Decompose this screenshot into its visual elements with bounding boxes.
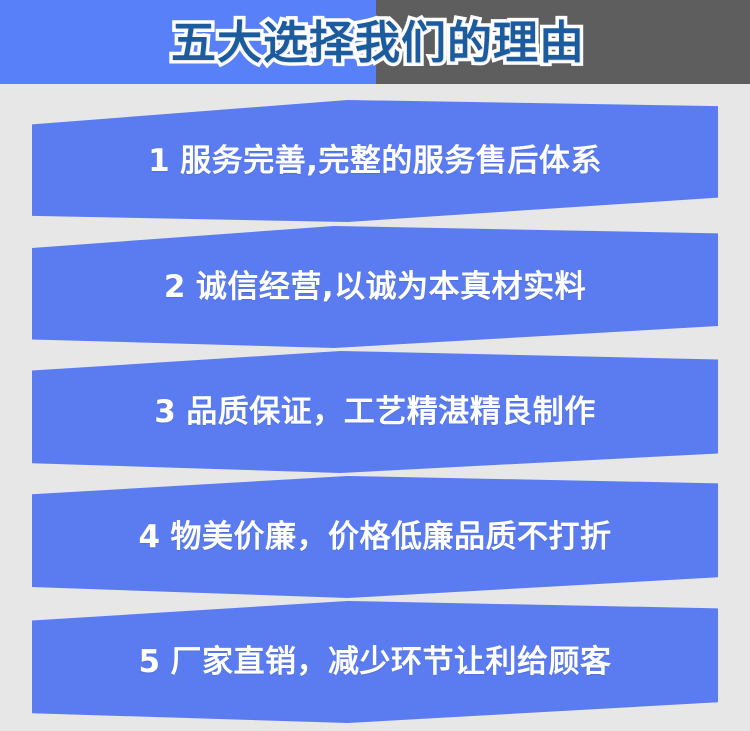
list-item[interactable]: 1服务完善,完整的服务售后体系: [0, 100, 750, 222]
reason-banner-2-label: 诚信经营,以诚为本真材实料: [196, 269, 586, 305]
reason-banner-5-content: 5厂家直销，减少环节让利给顾客: [138, 647, 611, 678]
reason-banner-1-label: 服务完善,完整的服务售后体系: [180, 143, 602, 179]
reason-banner-2-number: 2: [164, 272, 186, 303]
reason-banner-4-content: 4物美价廉，价格低廉品质不打折: [138, 522, 611, 553]
reason-banner-5[interactable]: 5厂家直销，减少环节让利给顾客: [32, 601, 718, 723]
list-item[interactable]: 3品质保证，工艺精湛精良制作: [0, 351, 750, 473]
header-bar: 五大选择我们的理由: [0, 0, 750, 84]
list-item[interactable]: 5厂家直销，减少环节让利给顾客: [0, 601, 750, 723]
reason-banner-2-content: 2诚信经营,以诚为本真材实料: [164, 272, 586, 303]
reason-banner-2[interactable]: 2诚信经营,以诚为本真材实料: [32, 226, 718, 348]
reason-banner-3-label: 品质保证，工艺精湛精良制作: [186, 394, 596, 430]
reason-banner-3-content: 3品质保证，工艺精湛精良制作: [154, 397, 596, 428]
reason-banner-1[interactable]: 1服务完善,完整的服务售后体系: [32, 100, 718, 222]
page-title: 五大选择我们的理由: [0, 0, 750, 84]
reason-banner-3-number: 3: [154, 397, 176, 428]
reason-banner-4[interactable]: 4物美价廉，价格低廉品质不打折: [32, 476, 718, 598]
reason-banner-1-content: 1服务完善,完整的服务售后体系: [148, 146, 602, 177]
list-item[interactable]: 4物美价廉，价格低廉品质不打折: [0, 476, 750, 598]
reason-banner-5-number: 5: [138, 647, 160, 678]
reason-banner-1-number: 1: [148, 146, 170, 177]
reason-banner-4-label: 物美价廉，价格低廉品质不打折: [171, 519, 612, 555]
reason-banner-4-number: 4: [138, 522, 160, 553]
reason-banner-5-label: 厂家直销，减少环节让利给顾客: [171, 644, 612, 680]
list-item[interactable]: 2诚信经营,以诚为本真材实料: [0, 226, 750, 348]
reason-banner-list: 1服务完善,完整的服务售后体系 2诚信经营,以诚为本真材实料 3品质保证，工艺精…: [0, 84, 750, 731]
reason-banner-3[interactable]: 3品质保证，工艺精湛精良制作: [32, 351, 718, 473]
